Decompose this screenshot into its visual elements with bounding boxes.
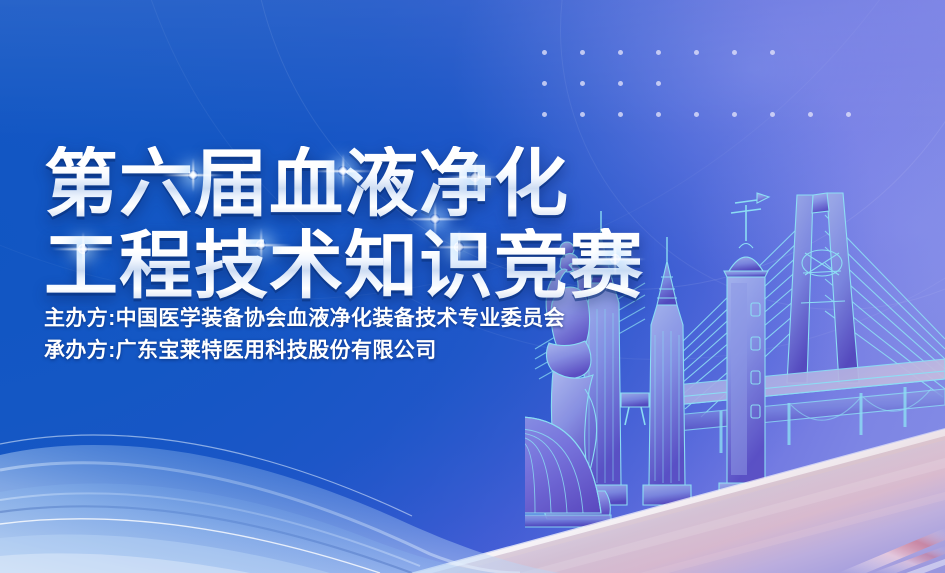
- co-organizer-line: 承办方:广东宝莱特医用科技股份有限公司: [44, 338, 437, 363]
- banner-poster: 第六届血液净化 工程技术知识竞赛: [0, 0, 945, 573]
- title-line-1: 第六届血液净化: [44, 146, 644, 222]
- text-content: 第六届血液净化 工程技术知识竞赛: [0, 0, 945, 573]
- title-line-2: 工程技术知识竞赛: [44, 228, 644, 304]
- organizer-line: 主办方:中国医学装备协会血液净化装备技术专业委员会: [44, 306, 565, 331]
- main-title: 第六届血液净化 工程技术知识竞赛: [44, 146, 644, 304]
